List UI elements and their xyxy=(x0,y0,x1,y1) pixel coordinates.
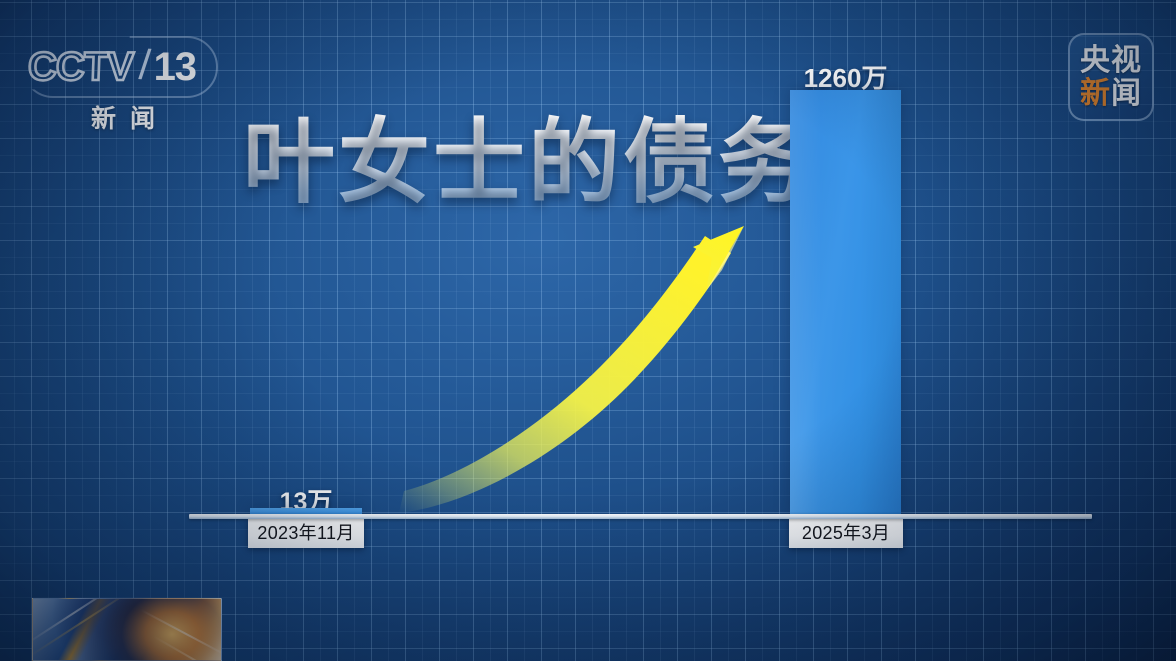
bar-chart: 1260万 13万 xyxy=(0,0,1176,661)
x-axis-line xyxy=(189,514,1092,519)
studio-thumbnail xyxy=(32,598,222,661)
broadcast-screen: CCTV / 13 新闻 央视 新 闻 叶女士的债务 1260万 13万 xyxy=(0,0,1176,661)
bar-2025 xyxy=(790,90,901,516)
x-axis-label-2025: 2025年3月 xyxy=(789,518,903,548)
growth-arrow-icon xyxy=(0,0,1176,661)
x-axis-label-2023: 2023年11月 xyxy=(248,518,364,548)
